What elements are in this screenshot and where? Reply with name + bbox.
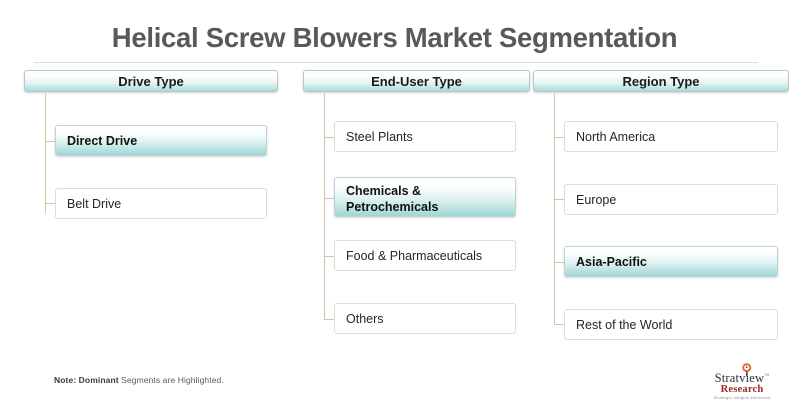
item-label-line1: Chemicals & (346, 183, 504, 199)
connector-branch-belt-drive (45, 203, 55, 204)
logo-tagline: Strategic Insights Delivered (700, 395, 784, 400)
item-direct-drive[interactable]: Direct Drive (55, 125, 267, 156)
connector-branch-others (324, 319, 334, 320)
item-others[interactable]: Others (334, 303, 516, 334)
page-title: Helical Screw Blowers Market Segmentatio… (0, 22, 789, 54)
item-label: Food & Pharmaceuticals (346, 248, 482, 264)
item-label: Direct Drive (67, 133, 137, 149)
item-food-pharmaceuticals[interactable]: Food & Pharmaceuticals (334, 240, 516, 271)
connector-branch-rest-of-world (554, 324, 564, 325)
connector-branch-food-pharma (324, 256, 334, 257)
item-europe[interactable]: Europe (564, 184, 778, 215)
item-label: North America (576, 129, 655, 145)
item-label: Belt Drive (67, 196, 121, 212)
column-region-type: Region Type North America Europe Asia-Pa… (533, 70, 789, 92)
column-end-user-type: End-User Type Steel Plants Chemicals & P… (303, 70, 530, 92)
item-north-america[interactable]: North America (564, 121, 778, 152)
column-header-drive-type[interactable]: Drive Type (24, 70, 278, 92)
item-label: Europe (576, 192, 616, 208)
item-label: Others (346, 311, 384, 327)
column-header-end-user-type[interactable]: End-User Type (303, 70, 530, 92)
title-divider (34, 62, 758, 63)
item-asia-pacific[interactable]: Asia-Pacific (564, 246, 778, 277)
footnote-bold: Note: Dominant (54, 375, 119, 385)
connector-branch-steel-plants (324, 137, 334, 138)
item-belt-drive[interactable]: Belt Drive (55, 188, 267, 219)
connector-branch-chemicals (324, 198, 334, 199)
footnote-rest: Segments are Highlighted. (119, 375, 224, 385)
connector-branch-asia-pacific (554, 262, 564, 263)
item-steel-plants[interactable]: Steel Plants (334, 121, 516, 152)
column-header-region-type[interactable]: Region Type (533, 70, 789, 92)
item-label: Asia-Pacific (576, 254, 647, 270)
connector-stem-drive-type (45, 93, 46, 213)
footnote: Note: Dominant Segments are Highlighted. (54, 375, 224, 385)
brand-logo: Stratview™ Research Strategic Insights D… (700, 362, 784, 402)
item-label: Steel Plants (346, 129, 413, 145)
connector-branch-north-america (554, 137, 564, 138)
connector-branch-direct-drive (45, 141, 55, 142)
connector-stem-region-type (554, 93, 555, 325)
item-chemicals-petrochemicals[interactable]: Chemicals & Petrochemicals (334, 177, 516, 217)
item-label-line2: Petrochemicals (346, 199, 504, 215)
item-rest-of-the-world[interactable]: Rest of the World (564, 309, 778, 340)
connector-stem-end-user-type (324, 93, 325, 320)
logo-name-text: Stratview (715, 371, 765, 385)
item-label: Rest of the World (576, 317, 672, 333)
column-drive-type: Drive Type Direct Drive Belt Drive (24, 70, 278, 92)
logo-trademark: ™ (764, 374, 769, 379)
logo-subtitle: Research (700, 384, 784, 395)
connector-branch-europe (554, 199, 564, 200)
